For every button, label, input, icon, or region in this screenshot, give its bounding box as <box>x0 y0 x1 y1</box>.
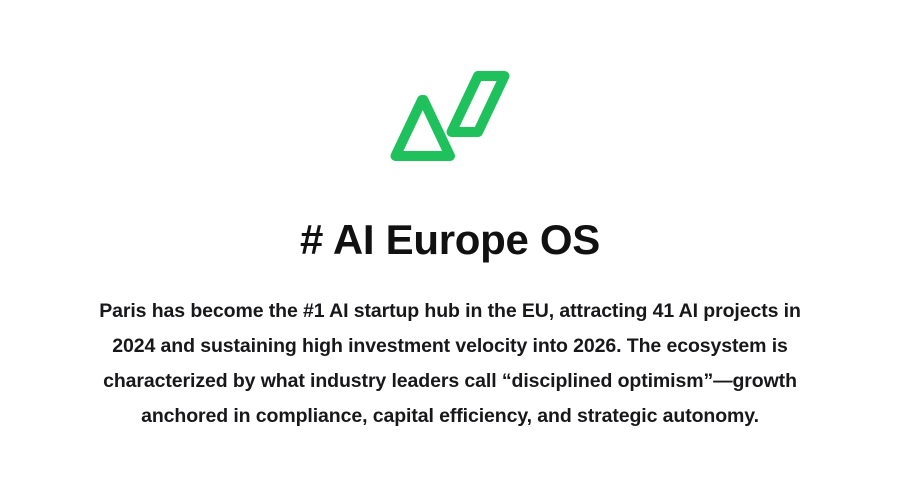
body-paragraph: Paris has become the #1 AI startup hub i… <box>80 294 820 434</box>
logo-container <box>380 66 520 166</box>
ai-europe-os-logo-icon <box>387 68 513 164</box>
page-title: # AI Europe OS <box>300 218 600 262</box>
slide-root: # AI Europe OS Paris has become the #1 A… <box>0 0 900 500</box>
